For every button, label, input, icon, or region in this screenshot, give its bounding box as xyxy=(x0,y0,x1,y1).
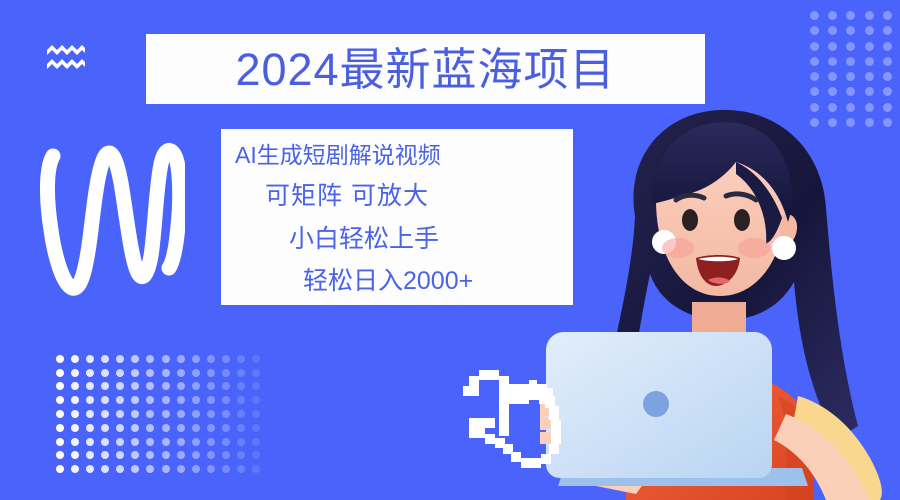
grid-dot xyxy=(237,451,245,459)
grid-dot xyxy=(131,424,139,432)
grid-dot xyxy=(883,26,892,35)
grid-dot xyxy=(86,424,94,432)
grid-dot xyxy=(810,11,819,20)
grid-dot xyxy=(56,369,64,377)
grid-dot xyxy=(252,355,260,363)
pixel-pointing-hand-cursor-icon xyxy=(455,358,565,486)
grid-dot xyxy=(101,355,109,363)
grid-dot xyxy=(56,424,64,432)
subtitle-line-4: 轻松日入2000+ xyxy=(231,268,563,295)
grid-dot xyxy=(192,369,200,377)
grid-dot xyxy=(56,410,64,418)
title-panel: 2024最新蓝海项目 xyxy=(146,34,705,104)
grid-dot xyxy=(146,396,154,404)
grid-dot xyxy=(101,424,109,432)
grid-dot xyxy=(222,396,230,404)
grid-dot xyxy=(131,451,139,459)
grid-dot xyxy=(252,438,260,446)
grid-dot xyxy=(207,438,215,446)
grid-dot xyxy=(207,424,215,432)
grid-dot xyxy=(131,396,139,404)
grid-dot xyxy=(222,382,230,390)
grid-dot xyxy=(162,382,170,390)
grid-dot xyxy=(131,410,139,418)
grid-dot xyxy=(116,396,124,404)
grid-dot xyxy=(116,369,124,377)
grid-dot xyxy=(192,410,200,418)
grid-dot xyxy=(828,72,837,81)
grid-dot xyxy=(146,382,154,390)
grid-dot xyxy=(177,396,185,404)
grid-dot xyxy=(865,72,874,81)
grid-dot xyxy=(192,451,200,459)
grid-dot xyxy=(222,369,230,377)
grid-dot xyxy=(86,355,94,363)
grid-dot xyxy=(71,465,79,473)
grid-dot xyxy=(86,451,94,459)
subtitle-line-3: 小白轻松上手 xyxy=(231,226,563,253)
grid-dot xyxy=(101,465,109,473)
grid-dot xyxy=(192,438,200,446)
grid-dot xyxy=(71,438,79,446)
grid-dot xyxy=(71,355,79,363)
grid-dot xyxy=(177,382,185,390)
subtitle-line-1: AI生成短剧解说视频 xyxy=(231,143,563,167)
subtitle-line-2: 可矩阵 可放大 xyxy=(231,183,563,210)
grid-dot xyxy=(865,42,874,51)
grid-dot xyxy=(71,369,79,377)
grid-dot xyxy=(146,451,154,459)
grid-dot xyxy=(177,355,185,363)
grid-dot xyxy=(116,410,124,418)
grid-dot xyxy=(222,465,230,473)
grid-dot xyxy=(252,382,260,390)
grid-dot xyxy=(883,11,892,20)
grid-dot xyxy=(252,410,260,418)
grid-dot xyxy=(146,355,154,363)
grid-dot xyxy=(177,451,185,459)
grid-dot xyxy=(86,369,94,377)
grid-dot xyxy=(237,355,245,363)
grid-dot xyxy=(865,11,874,20)
grid-dot xyxy=(207,369,215,377)
grid-dot xyxy=(237,465,245,473)
grid-dot xyxy=(192,396,200,404)
grid-dot xyxy=(846,11,855,20)
grid-dot xyxy=(207,410,215,418)
grid-dot xyxy=(828,26,837,35)
grid-dot xyxy=(177,465,185,473)
grid-dot xyxy=(846,72,855,81)
grid-dot xyxy=(56,438,64,446)
grid-dot xyxy=(828,57,837,66)
grid-dot xyxy=(86,382,94,390)
grid-dot xyxy=(116,424,124,432)
grid-dot xyxy=(146,465,154,473)
grid-dot xyxy=(101,451,109,459)
grid-dot xyxy=(207,382,215,390)
grid-dot xyxy=(101,438,109,446)
grid-dot xyxy=(828,42,837,51)
grid-dot xyxy=(131,369,139,377)
grid-dot xyxy=(162,465,170,473)
grid-dot xyxy=(116,451,124,459)
dot-grid-bottom-left xyxy=(52,352,264,476)
grid-dot xyxy=(162,355,170,363)
grid-dot xyxy=(71,424,79,432)
laptop-logo xyxy=(643,391,669,417)
grid-dot xyxy=(237,382,245,390)
grid-dot xyxy=(177,438,185,446)
grid-dot xyxy=(810,26,819,35)
grid-dot xyxy=(883,42,892,51)
grid-dot xyxy=(865,26,874,35)
grid-dot xyxy=(146,438,154,446)
grid-dot xyxy=(101,382,109,390)
grid-dot xyxy=(207,465,215,473)
grid-dot xyxy=(192,424,200,432)
woman-with-laptop-illustration xyxy=(540,96,900,500)
grid-dot xyxy=(846,57,855,66)
grid-dot xyxy=(71,382,79,390)
grid-dot xyxy=(237,410,245,418)
subtitle-panel: AI生成短剧解说视频 可矩阵 可放大 小白轻松上手 轻松日入2000+ xyxy=(221,129,573,305)
grid-dot xyxy=(828,11,837,20)
grid-dot xyxy=(162,438,170,446)
grid-dot xyxy=(86,438,94,446)
grid-dot xyxy=(252,465,260,473)
grid-dot xyxy=(162,410,170,418)
grid-dot xyxy=(162,396,170,404)
grid-dot xyxy=(883,72,892,81)
grid-dot xyxy=(222,438,230,446)
grid-dot xyxy=(71,451,79,459)
grid-dot xyxy=(177,369,185,377)
grid-dot xyxy=(146,424,154,432)
grid-dot xyxy=(56,465,64,473)
grid-dot xyxy=(86,465,94,473)
grid-dot xyxy=(192,465,200,473)
grid-dot xyxy=(56,396,64,404)
grid-dot xyxy=(131,438,139,446)
grid-dot xyxy=(237,396,245,404)
poster-canvas: 2024最新蓝海项目 AI生成短剧解说视频 可矩阵 可放大 小白轻松上手 轻松日… xyxy=(0,0,900,500)
grid-dot xyxy=(146,410,154,418)
grid-dot xyxy=(207,396,215,404)
grid-dot xyxy=(865,57,874,66)
grid-dot xyxy=(116,438,124,446)
brush-squiggle-w-icon xyxy=(40,138,185,298)
page-title: 2024最新蓝海项目 xyxy=(235,47,615,92)
grid-dot xyxy=(846,42,855,51)
grid-dot xyxy=(207,451,215,459)
grid-dot xyxy=(131,355,139,363)
grid-dot xyxy=(810,57,819,66)
grid-dot xyxy=(222,451,230,459)
grid-dot xyxy=(71,410,79,418)
grid-dot xyxy=(162,424,170,432)
grid-dot xyxy=(222,410,230,418)
grid-dot xyxy=(252,451,260,459)
zigzag-wave-icon xyxy=(46,44,86,72)
grid-dot xyxy=(222,355,230,363)
grid-dot xyxy=(222,424,230,432)
grid-dot xyxy=(101,369,109,377)
grid-dot xyxy=(252,396,260,404)
grid-dot xyxy=(237,438,245,446)
grid-dot xyxy=(56,451,64,459)
grid-dot xyxy=(101,396,109,404)
grid-dot xyxy=(146,369,154,377)
grid-dot xyxy=(56,355,64,363)
grid-dot xyxy=(101,410,109,418)
grid-dot xyxy=(192,355,200,363)
grid-dot xyxy=(883,57,892,66)
grid-dot xyxy=(56,382,64,390)
grid-dot xyxy=(162,451,170,459)
grid-dot xyxy=(116,382,124,390)
grid-dot xyxy=(71,396,79,404)
grid-dot xyxy=(116,355,124,363)
grid-dot xyxy=(810,72,819,81)
grid-dot xyxy=(162,369,170,377)
grid-dot xyxy=(810,42,819,51)
grid-dot xyxy=(192,382,200,390)
grid-dot xyxy=(177,424,185,432)
grid-dot xyxy=(131,465,139,473)
grid-dot xyxy=(86,396,94,404)
grid-dot xyxy=(237,424,245,432)
grid-dot xyxy=(177,410,185,418)
grid-dot xyxy=(252,369,260,377)
grid-dot xyxy=(116,465,124,473)
grid-dot xyxy=(207,355,215,363)
grid-dot xyxy=(846,26,855,35)
grid-dot xyxy=(86,410,94,418)
grid-dot xyxy=(131,382,139,390)
grid-dot xyxy=(237,369,245,377)
grid-dot xyxy=(252,424,260,432)
